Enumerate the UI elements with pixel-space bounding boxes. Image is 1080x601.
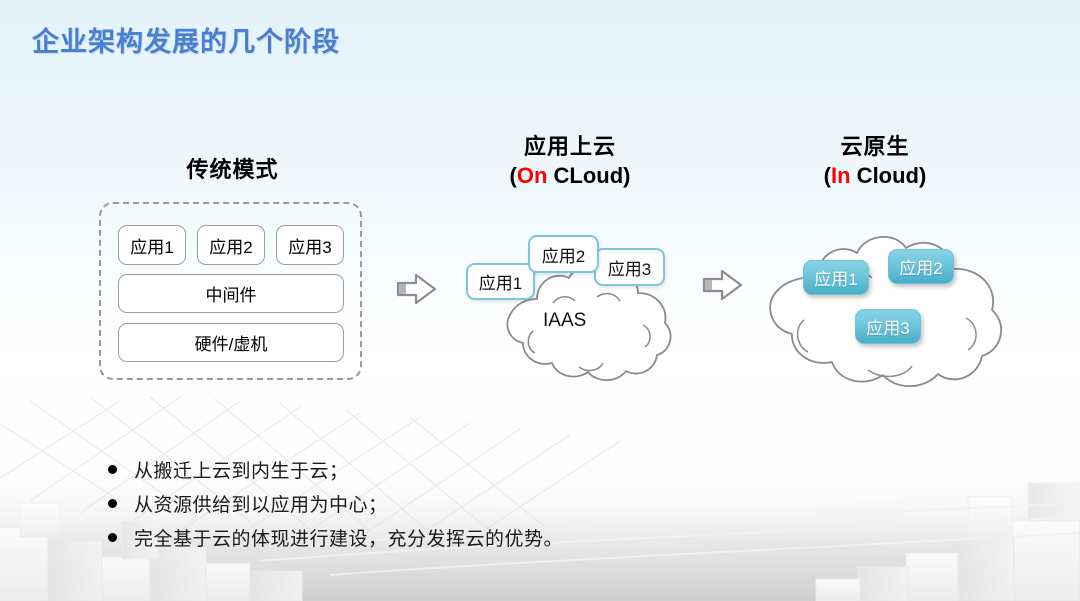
stage-3-heading-en-rest: Cloud) (851, 163, 927, 188)
oncloud-chip-app3[interactable]: 应用3 (594, 248, 665, 286)
stage-2-heading-en: (On CLoud) (455, 163, 685, 188)
arrow-right-icon (702, 268, 744, 302)
stage-3-heading: 云原生 (In Cloud) (760, 134, 990, 189)
traditional-box-app1[interactable]: 应用1 (118, 225, 186, 265)
bullet-text-2: 从资源供给到以应用为中心； (134, 490, 388, 517)
traditional-box-middleware[interactable]: 中间件 (118, 274, 344, 313)
stage-3-heading-en-open: ( (824, 163, 831, 188)
slide-canvas: 企业架构发展的几个阶段 传统模式 应用上云 (On CLoud) 云原生 (In… (0, 0, 1080, 601)
traditional-box-app2[interactable]: 应用2 (197, 225, 265, 265)
stage-3-heading-en: (In Cloud) (760, 163, 990, 188)
stage-2-heading-en-open: ( (510, 163, 517, 188)
stage-1-heading-cn: 传统模式 (110, 157, 355, 182)
traditional-box-hardware[interactable]: 硬件/虚机 (118, 323, 344, 362)
cloudnative-chip-app2[interactable]: 应用2 (888, 249, 954, 284)
stage-2-heading-en-rest: CLoud) (547, 163, 630, 188)
oncloud-chip-app2[interactable]: 应用2 (528, 235, 599, 273)
stage-2-heading: 应用上云 (On CLoud) (455, 134, 685, 189)
cloudnative-cloud-shape (756, 222, 1021, 392)
bullet-dot-icon (108, 533, 117, 542)
stage-2-heading-cn: 应用上云 (455, 134, 685, 159)
bullet-list: 从搬迁上云到内生于云； 从资源供给到以应用为中心； 完全基于云的体现进行建设，充… (108, 452, 728, 554)
traditional-box-app3[interactable]: 应用3 (276, 225, 344, 265)
bullet-text-3: 完全基于云的体现进行建设，充分发挥云的优势。 (134, 524, 563, 551)
cloudnative-chip-app3[interactable]: 应用3 (855, 309, 921, 344)
stage-3-heading-cn: 云原生 (760, 134, 990, 159)
arrow-right-icon (396, 272, 438, 306)
bullet-dot-icon (108, 499, 117, 508)
oncloud-chip-app1[interactable]: 应用1 (466, 263, 535, 300)
stage-2-heading-en-highlight: On (517, 163, 548, 188)
list-item: 完全基于云的体现进行建设，充分发挥云的优势。 (108, 520, 728, 554)
stage-1-heading: 传统模式 (110, 157, 355, 182)
bullet-dot-icon (108, 465, 117, 474)
iaas-cloud-label: IAAS (543, 310, 586, 332)
list-item: 从资源供给到以应用为中心； (108, 486, 728, 520)
bullet-text-1: 从搬迁上云到内生于云； (134, 456, 349, 483)
cloudnative-chip-app1[interactable]: 应用1 (803, 260, 869, 295)
page-title: 企业架构发展的几个阶段 (32, 20, 340, 59)
list-item: 从搬迁上云到内生于云； (108, 452, 728, 486)
stage-3-heading-en-highlight: In (831, 163, 851, 188)
